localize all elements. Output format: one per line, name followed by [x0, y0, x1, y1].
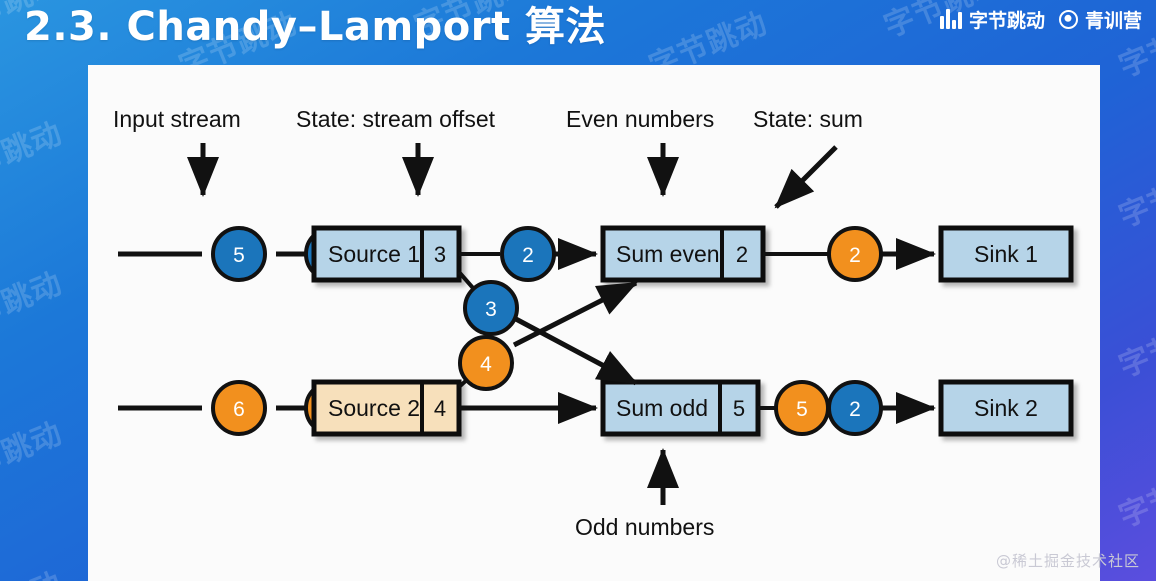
- bytedance-logo: 字节跳动: [940, 6, 1045, 33]
- record-top-emitted-1-value: 2: [522, 244, 534, 267]
- annotation-odd-numbers-label: Odd numbers: [575, 514, 714, 540]
- footer-watermark: @稀土掘金技术社区: [996, 550, 1140, 571]
- record-crossing-1-value: 3: [485, 298, 497, 321]
- watermark-text: 字节跳动: [0, 558, 68, 581]
- watermark-text: 字节跳动: [0, 258, 68, 345]
- operator-source-2-state: 4: [434, 396, 446, 421]
- brand-bar: 字节跳动 青训营: [940, 0, 1156, 36]
- annotation-even-numbers-label: Even numbers: [566, 106, 714, 132]
- annotation-state-offset-label: State: stream offset: [296, 106, 496, 132]
- slide-canvas: 字节跳动字节跳动字节跳动字节跳动字节跳动字节跳动字节跳动字节跳动字节跳动字节跳动…: [0, 0, 1156, 581]
- campus-badge-icon: [1059, 10, 1078, 29]
- record-bottom-out-1-value: 5: [796, 398, 808, 421]
- bytedance-logo-text: 字节跳动: [969, 6, 1045, 33]
- bytedance-bars-icon: [940, 9, 962, 29]
- operator-sum-even-state: 2: [736, 242, 748, 267]
- watermark-text: 字节跳动: [1111, 298, 1156, 385]
- figure-panel: Input stream State: stream offset Even n…: [88, 65, 1100, 581]
- cross-arrow-4-to-sum-even: [514, 283, 636, 345]
- operator-sum-odd-state: 5: [733, 396, 745, 421]
- operator-source-1-label: Source 1: [328, 241, 420, 267]
- operator-source-2-label: Source 2: [328, 395, 420, 421]
- sink-2-label: Sink 2: [974, 395, 1038, 421]
- annotation-state-sum-label: State: sum: [753, 106, 863, 132]
- watermark-text: 字节跳动: [0, 408, 68, 495]
- operator-sum-even-label: Sum even: [616, 241, 720, 267]
- record-top-out-1-value: 2: [849, 244, 861, 267]
- dataflow-diagram: Input stream State: stream offset Even n…: [88, 65, 1100, 581]
- record-top-in-1-value: 5: [233, 244, 245, 267]
- operator-sum-odd-label: Sum odd: [616, 395, 708, 421]
- sink-1-label: Sink 1: [974, 241, 1038, 267]
- page-title: 2.3. Chandy–Lamport 算法: [24, 0, 606, 52]
- cross-arrow-3-to-sum-odd: [514, 318, 636, 383]
- operator-source-1-state: 3: [434, 242, 446, 267]
- watermark-text: 字节跳动: [1111, 448, 1156, 535]
- campus-badge-text: 青训营: [1085, 6, 1142, 33]
- annotation-input-stream-label: Input stream: [113, 106, 241, 132]
- record-bottom-in-1-value: 6: [233, 398, 245, 421]
- record-crossing-2-value: 4: [480, 353, 492, 376]
- record-bottom-out-2-value: 2: [849, 398, 861, 421]
- watermark-text: 字节跳动: [1111, 148, 1156, 235]
- campus-badge: 青训营: [1059, 6, 1142, 33]
- watermark-text: 字节跳动: [0, 108, 68, 195]
- annotation-state-sum-arrow: [776, 147, 836, 207]
